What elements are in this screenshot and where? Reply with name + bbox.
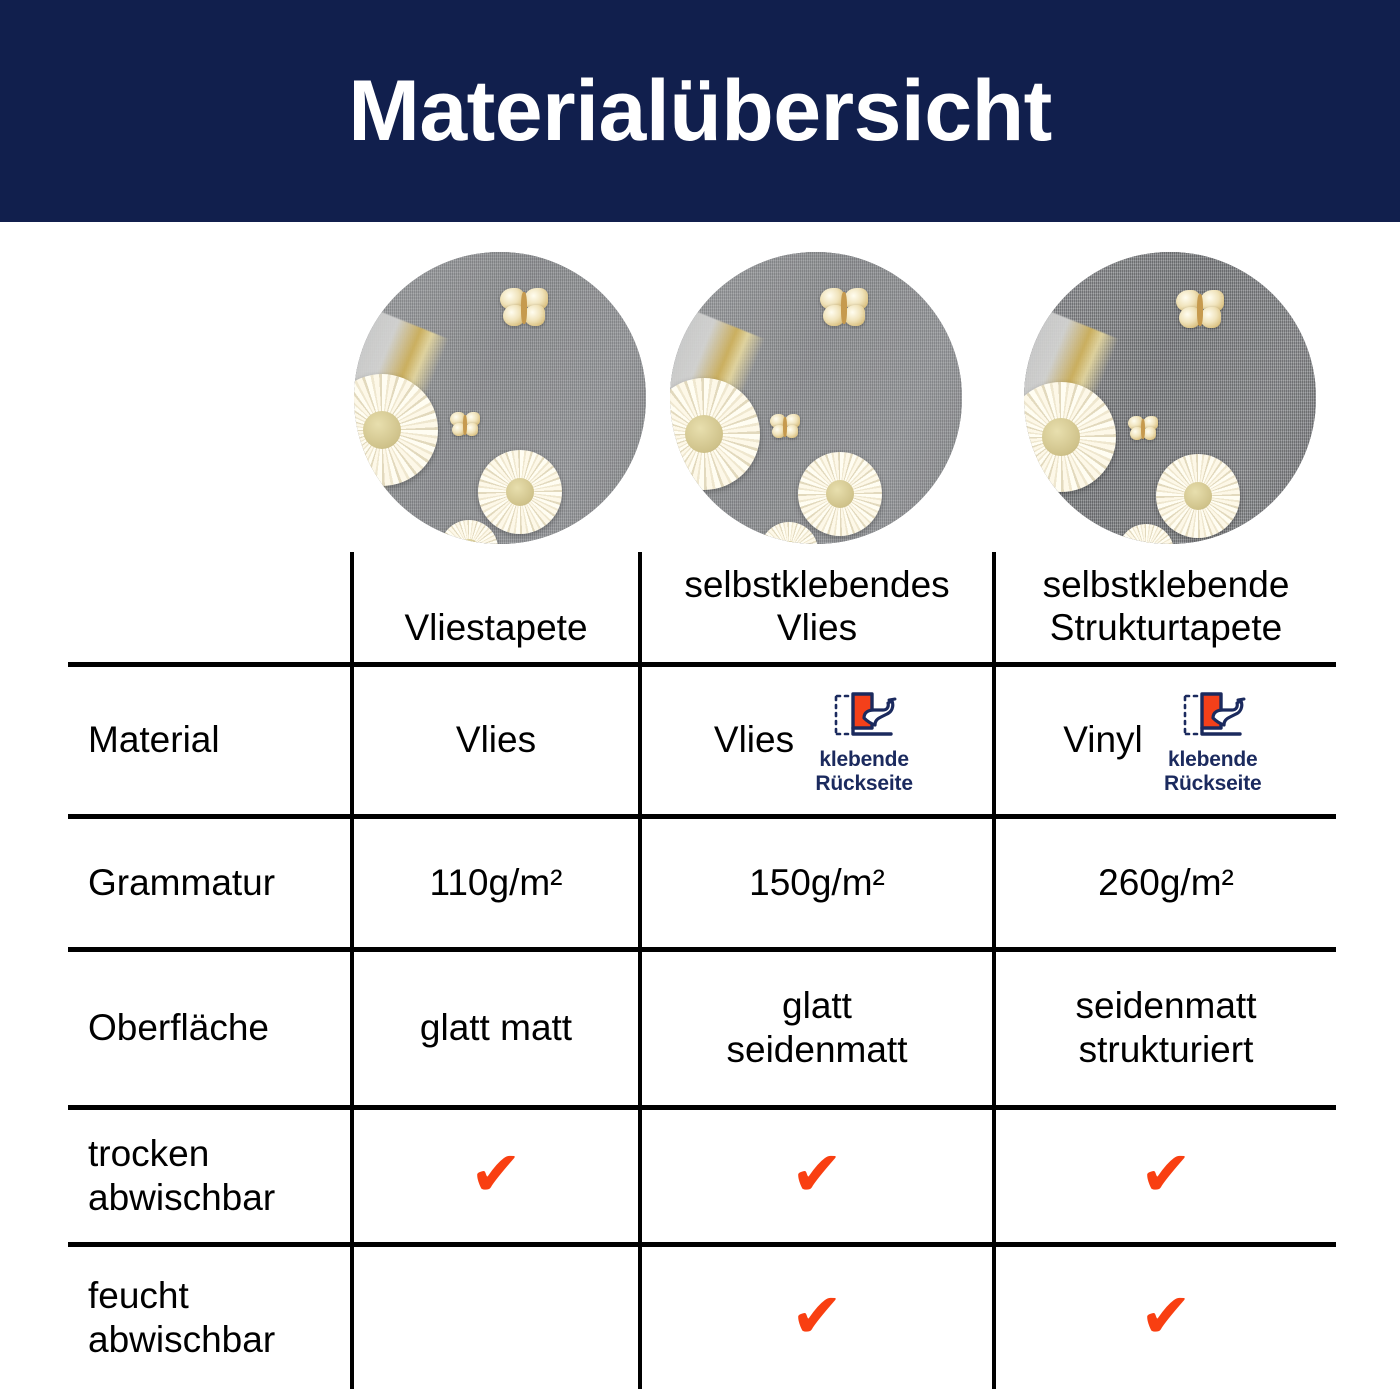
peel-adhesive-backing-icon xyxy=(1180,688,1246,746)
row-label-material: Material xyxy=(68,664,352,816)
cell-material-selbstklebende-strukturtapete: Vinyl xyxy=(994,664,1336,816)
badge-line-1: klebende xyxy=(819,748,908,771)
swatch-image-2 xyxy=(670,252,962,544)
cell-feucht-selbstklebendes-vlies: ✔ xyxy=(640,1244,994,1389)
column-header-vliestapete: Vliestapete xyxy=(352,552,640,664)
cell-value: Vinyl xyxy=(1063,718,1143,762)
adhesive-badge-text: klebende Rückseite xyxy=(1164,748,1261,797)
table-row-oberflaeche: Oberfläche glatt matt glatt seidenmatt s… xyxy=(68,949,1336,1107)
column-header-selbstklebendes-vlies: selbstklebendes Vlies xyxy=(640,552,994,664)
row-label-grammatur: Grammatur xyxy=(68,816,352,949)
material-comparison-table: Vliestapete selbstklebendes Vlies selbst… xyxy=(68,552,1336,1389)
row-label-trocken-abwischbar: trocken abwischbar xyxy=(68,1107,352,1244)
butterfly-icon xyxy=(500,288,548,330)
cell-trocken-vliestapete: ✔ xyxy=(352,1107,640,1244)
cell-value: Vlies xyxy=(456,718,536,762)
butterfly-icon xyxy=(1128,416,1158,443)
cell-value: 110g/m² xyxy=(430,861,563,905)
badge-line-2: Rückseite xyxy=(815,772,912,795)
cell-value: seidenmatt strukturiert xyxy=(1032,984,1300,1071)
badge-line-1: klebende xyxy=(1168,748,1257,771)
cell-value: Vlies xyxy=(714,718,794,762)
cell-feucht-selbstklebende-strukturtapete: ✔ xyxy=(994,1244,1336,1389)
header-banner: Materialübersicht xyxy=(0,0,1400,222)
swatch-vliestapete xyxy=(354,252,646,544)
table-corner-cell xyxy=(68,552,352,664)
adhesive-backing-badge: klebende Rückseite xyxy=(808,688,920,797)
butterfly-icon xyxy=(820,288,868,330)
table-header-row: Vliestapete selbstklebendes Vlies selbst… xyxy=(68,552,1336,664)
cell-material-vliestapete: Vlies xyxy=(352,664,640,816)
cell-grammatur-selbstklebendes-vlies: 150g/m² xyxy=(640,816,994,949)
cell-oberflaeche-selbstklebende-strukturtapete: seidenmatt strukturiert xyxy=(994,949,1336,1107)
row-label-feucht-abwischbar: feucht abwischbar xyxy=(68,1244,352,1389)
cell-trocken-selbstklebende-strukturtapete: ✔ xyxy=(994,1107,1336,1244)
table-row-grammatur: Grammatur 110g/m² 150g/m² 260g/m² xyxy=(68,816,1336,949)
swatch-image-row xyxy=(352,252,1336,552)
butterfly-icon xyxy=(770,414,800,441)
checkmark-icon: ✔ xyxy=(470,1143,522,1205)
badge-line-2: Rückseite xyxy=(1164,772,1261,795)
cell-value: glatt matt xyxy=(420,1006,572,1050)
cell-grammatur-selbstklebende-strukturtapete: 260g/m² xyxy=(994,816,1336,949)
row-label-oberflaeche: Oberfläche xyxy=(68,949,352,1107)
daisy-flower xyxy=(478,450,562,534)
table-row-feucht-abwischbar: feucht abwischbar ✔ ✔ ✔ xyxy=(68,1244,1336,1389)
material-overview-page: Materialübersicht xyxy=(0,0,1400,1400)
column-header-selbstklebende-strukturtapete: selbstklebende Strukturtapete xyxy=(994,552,1336,664)
cell-trocken-selbstklebendes-vlies: ✔ xyxy=(640,1107,994,1244)
daisy-flower xyxy=(1156,454,1240,538)
cell-value: 150g/m² xyxy=(749,861,885,905)
swatch-selbstklebendes-vlies xyxy=(670,252,962,544)
adhesive-badge-text: klebende Rückseite xyxy=(815,748,912,797)
table-row-material: Material Vlies Vlies xyxy=(68,664,1336,816)
cell-oberflaeche-selbstklebendes-vlies: glatt seidenmatt xyxy=(640,949,994,1107)
swatch-selbstklebende-strukturtapete xyxy=(1024,252,1316,544)
cell-feucht-vliestapete: ✔ xyxy=(352,1244,640,1389)
daisy-flower xyxy=(798,452,882,536)
checkmark-icon: ✔ xyxy=(1140,1285,1192,1347)
swatch-image-3 xyxy=(1024,252,1316,544)
peel-adhesive-backing-icon xyxy=(831,688,897,746)
row-label-text: feucht abwischbar xyxy=(88,1274,318,1361)
checkmark-icon: ✔ xyxy=(1140,1143,1192,1205)
butterfly-icon xyxy=(1176,290,1224,332)
checkmark-icon: ✔ xyxy=(791,1143,843,1205)
butterfly-icon xyxy=(450,412,480,439)
row-label-text: trocken abwischbar xyxy=(88,1132,318,1219)
cell-material-selbstklebendes-vlies: Vlies xyxy=(640,664,994,816)
cell-value: 260g/m² xyxy=(1098,861,1234,905)
swatch-image-1 xyxy=(354,252,646,544)
table-row-trocken-abwischbar: trocken abwischbar ✔ ✔ ✔ xyxy=(68,1107,1336,1244)
adhesive-backing-badge: klebende Rückseite xyxy=(1157,688,1269,797)
cell-grammatur-vliestapete: 110g/m² xyxy=(352,816,640,949)
checkmark-icon: ✔ xyxy=(791,1285,843,1347)
page-title: Materialübersicht xyxy=(348,68,1052,154)
cell-oberflaeche-vliestapete: glatt matt xyxy=(352,949,640,1107)
cell-value: glatt seidenmatt xyxy=(712,984,922,1071)
